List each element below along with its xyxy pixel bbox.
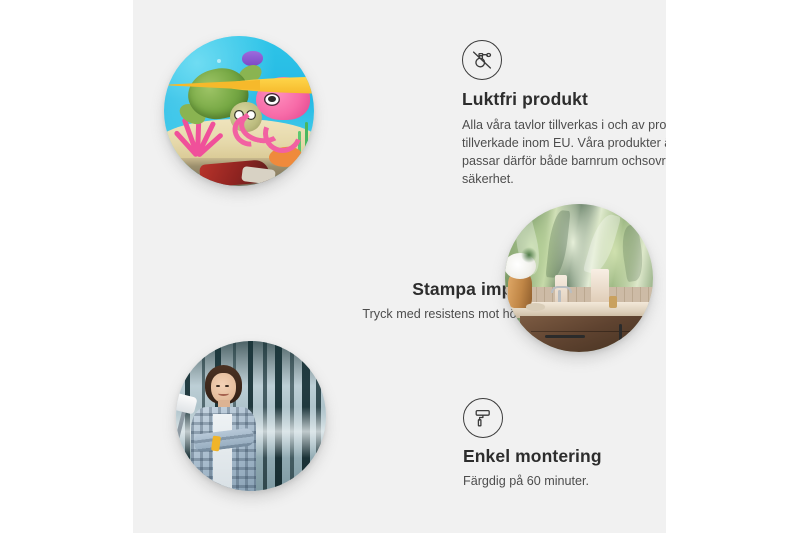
cabinet-handle xyxy=(642,324,645,340)
feature-block-easy-installation: Enkel montering Färgdig på 60 minuter. xyxy=(463,398,666,491)
feature-image-bathroom-tropical-wallpaper[interactable] xyxy=(505,204,653,352)
paint-roller-icon xyxy=(463,398,503,438)
eye xyxy=(225,385,229,387)
woman-face xyxy=(211,373,237,403)
eye xyxy=(216,385,220,387)
feature-block-odorless: Luktfri produkt Alla våra tavlor tillver… xyxy=(462,40,666,188)
screenshot-stage: Luktfri produkt Alla våra tavlor tillver… xyxy=(0,0,800,533)
seaweed-icon xyxy=(305,122,308,161)
feature-description: Alla våra tavlor tillverkas i och av pro… xyxy=(462,117,666,189)
towel-roll xyxy=(591,269,609,306)
wooden-vanity-cabinet xyxy=(520,316,653,352)
feature-description: Färgdig på 60 minuter. xyxy=(463,473,666,491)
drawer-seam xyxy=(531,331,650,333)
feature-title: Enkel montering xyxy=(463,446,666,468)
product-feature-panel: Luktfri produkt Alla våra tavlor tillver… xyxy=(133,0,666,533)
feature-image-woman-with-paint-roller-forest-wallpaper[interactable] xyxy=(176,341,326,491)
feature-title: Luktfri produkt xyxy=(462,89,666,111)
no-smell-perfume-bottle-icon xyxy=(462,40,502,80)
bathroom-photo xyxy=(505,204,653,352)
candle-shape xyxy=(609,296,618,308)
forest-canopy xyxy=(176,341,326,386)
inner-shirt xyxy=(213,414,232,491)
soap-dish xyxy=(526,303,545,310)
bubble-icon xyxy=(217,59,221,63)
smile xyxy=(218,391,229,396)
underwater-illustration xyxy=(164,36,314,186)
cabinet-handle xyxy=(619,324,622,340)
forest-photo xyxy=(176,341,326,491)
octopus-eye xyxy=(264,93,280,106)
feature-image-underwater-cartoon-scene[interactable] xyxy=(164,36,314,186)
drawer-handle xyxy=(545,335,585,338)
